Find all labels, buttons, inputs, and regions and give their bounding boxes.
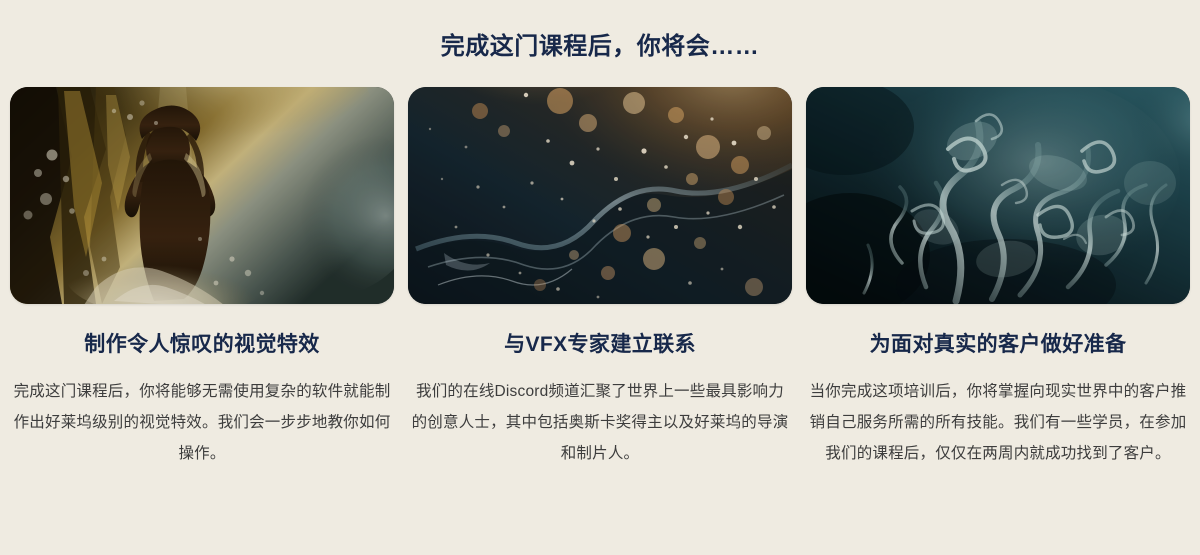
benefit-card-title: 与VFX专家建立联系: [504, 304, 696, 358]
benefit-card-body: 我们的在线Discord频道汇聚了世界上一些最具影响力的创意人士，其中包括奥斯卡…: [410, 358, 790, 469]
benefit-card: 与VFX专家建立联系 我们的在线Discord频道汇聚了世界上一些最具影响力的创…: [408, 87, 792, 469]
benefit-cards-row: 制作令人惊叹的视觉特效 完成这门课程后，你将能够无需使用复杂的软件就能制作出好莱…: [0, 87, 1200, 469]
section-heading: 完成这门课程后，你将会……: [0, 0, 1200, 62]
benefit-card-title: 为面对真实的客户做好准备: [870, 304, 1127, 358]
benefit-card-body: 完成这门课程后，你将能够无需使用复杂的软件就能制作出好莱坞级别的视觉特效。我们会…: [12, 358, 392, 469]
teal-smoke-illustration: [806, 87, 1190, 304]
warrior-in-waterfall-illustration: [10, 87, 394, 304]
benefit-card-body: 当你完成这项培训后，你将掌握向现实世界中的客户推销自己服务所需的所有技能。我们有…: [808, 358, 1188, 469]
benefit-card-title: 制作令人惊叹的视觉特效: [84, 304, 319, 358]
benefit-card: 制作令人惊叹的视觉特效 完成这门课程后，你将能够无需使用复杂的软件就能制作出好莱…: [10, 87, 394, 469]
teal-smoke-image: [806, 87, 1190, 304]
promo-benefits-section: 完成这门课程后，你将会……: [0, 0, 1200, 555]
benefit-card: 为面对真实的客户做好准备 当你完成这项培训后，你将掌握向现实世界中的客户推销自己…: [806, 87, 1190, 469]
sparks-and-mist-illustration: [408, 87, 792, 304]
sparks-and-mist-image: [408, 87, 792, 304]
warrior-in-waterfall-image: [10, 87, 394, 304]
